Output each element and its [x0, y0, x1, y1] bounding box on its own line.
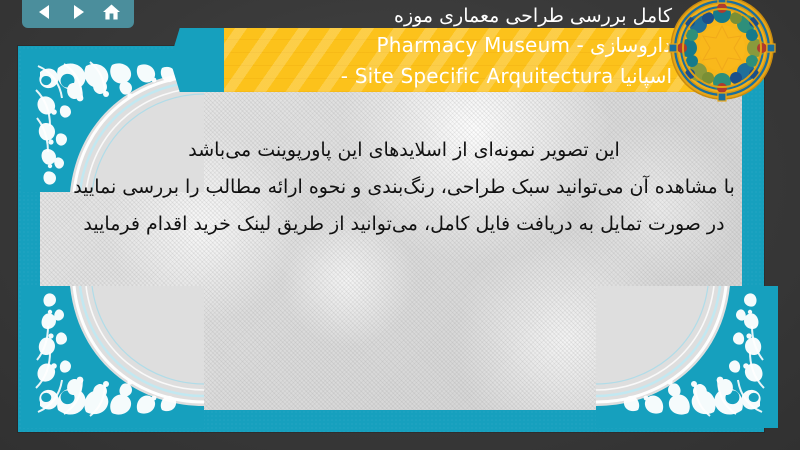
slide-title: کامل بررسی طراحی معماری موزه داروسازی - … [150, 2, 690, 96]
slide-container: این تصویر نمونه‌ای از اسلایدهای این پاور… [0, 0, 800, 450]
home-icon [102, 3, 121, 21]
navigation-bar [22, 0, 134, 28]
persian-medallion-icon [666, 0, 778, 104]
body-line-2: با مشاهده آن می‌توانید سبک طراحی، رنگ‌بن… [60, 169, 748, 206]
title-line-3: اسپانیا Site Specific Arquitectura - [150, 61, 672, 92]
title-line-2: داروسازی - Pharmacy Museum [150, 30, 672, 61]
triangle-right-icon [69, 3, 87, 21]
triangle-left-icon [36, 3, 54, 21]
body-line-1: این تصویر نمونه‌ای از اسلایدهای این پاور… [60, 132, 748, 169]
next-slide-button[interactable] [64, 0, 92, 24]
home-button[interactable] [97, 0, 125, 24]
body-paragraph: این تصویر نمونه‌ای از اسلایدهای این پاور… [60, 132, 748, 243]
title-line-1: کامل بررسی طراحی معماری موزه [150, 2, 672, 30]
body-line-3: در صورت تمایل به دریافت فایل کامل، می‌تو… [60, 206, 748, 243]
prev-slide-button[interactable] [31, 0, 59, 24]
